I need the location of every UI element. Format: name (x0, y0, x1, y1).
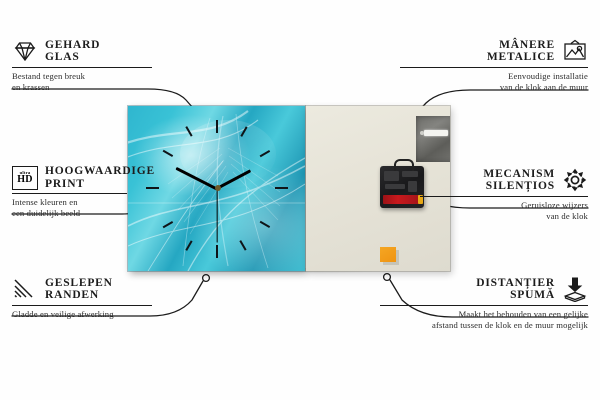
hanger-plate (416, 116, 450, 162)
callout-title: HOOGWAARDIGE PRINT (45, 165, 155, 190)
callout-header: MÂNERE METALICE (400, 38, 588, 64)
clock-tick (275, 187, 288, 189)
callout-subtitle: Bestand tegen breuk en krassen (12, 71, 190, 93)
mechanism-detail (384, 171, 399, 181)
callout-subtitle: Eenvoudige installatie van de klok aan d… (400, 71, 588, 93)
callout-header: MECANISM SILENȚIOS (420, 167, 588, 193)
clock-tick (216, 245, 218, 258)
callout-subtitle: Maakt het behouden van een gelijke afsta… (380, 309, 588, 331)
diamond-icon (12, 38, 38, 64)
battery (383, 195, 420, 204)
callout-title: MECANISM SILENȚIOS (483, 168, 555, 193)
callout-subtitle: Geruisloze wijzers van de klok (420, 200, 588, 222)
mechanism-detail (408, 181, 417, 192)
gear-icon (562, 167, 588, 193)
callout-rule (420, 196, 588, 197)
mechanism-hanger-loop (394, 159, 414, 171)
callout-title: GEHARD GLAS (45, 39, 100, 64)
clock-mechanism (380, 166, 424, 208)
callout-rule (12, 67, 152, 68)
callout-title: GESLEPEN RANDEN (45, 277, 113, 302)
arrow-onto-foam-icon (562, 276, 588, 302)
callout-gehard-glas: GEHARD GLAS Bestand tegen breuk en krass… (12, 38, 190, 93)
callout-rule (400, 67, 588, 68)
callout-header: GEHARD GLAS (12, 38, 190, 64)
beveled-edge-icon (12, 276, 38, 302)
callout-mecanism-silentios: MECANISM SILENȚIOS Geruisloze wijzers va… (420, 167, 588, 222)
callout-title: DISTANȚIER SPUMĂ (476, 277, 555, 302)
callout-manere-metalice: MÂNERE METALICE Eenvoudige installatie v… (400, 38, 588, 93)
callout-geslepen-randen: GESLEPEN RANDEN Gladde en veilige afwerk… (12, 276, 202, 320)
callout-subtitle: Intense kleuren en een duidelijk beeld (12, 197, 202, 219)
callout-header: ultra HD HOOGWAARDIGE PRINT (12, 165, 202, 190)
clock-tick (216, 120, 218, 133)
hanger-slot (424, 130, 448, 136)
ultra-hd-large-label: HD (17, 175, 33, 185)
foam-spacer (380, 247, 396, 262)
clock-center-cap (215, 185, 221, 191)
callout-title: MÂNERE METALICE (487, 39, 555, 64)
infographic-canvas: GEHARD GLAS Bestand tegen breuk en krass… (0, 0, 600, 400)
mechanism-detail (402, 171, 418, 177)
callout-rule (380, 305, 588, 306)
callout-subtitle: Gladde en veilige afwerking (12, 309, 202, 320)
mechanism-detail (385, 184, 405, 189)
callout-header: DISTANȚIER SPUMĂ (380, 276, 588, 302)
callout-rule (12, 193, 127, 194)
callout-rule (12, 305, 152, 306)
callout-hoogwaardige-print: ultra HD HOOGWAARDIGE PRINT Intense kleu… (12, 165, 202, 219)
ultra-hd-icon: ultra HD (12, 166, 38, 190)
wall-frame-hook-icon (562, 38, 588, 64)
clock-second-hand (216, 189, 217, 243)
callout-header: GESLEPEN RANDEN (12, 276, 202, 302)
callout-distantier-spuma: DISTANȚIER SPUMĂ Maakt het behouden van … (380, 276, 588, 331)
hanger-screw-hole (420, 131, 424, 135)
